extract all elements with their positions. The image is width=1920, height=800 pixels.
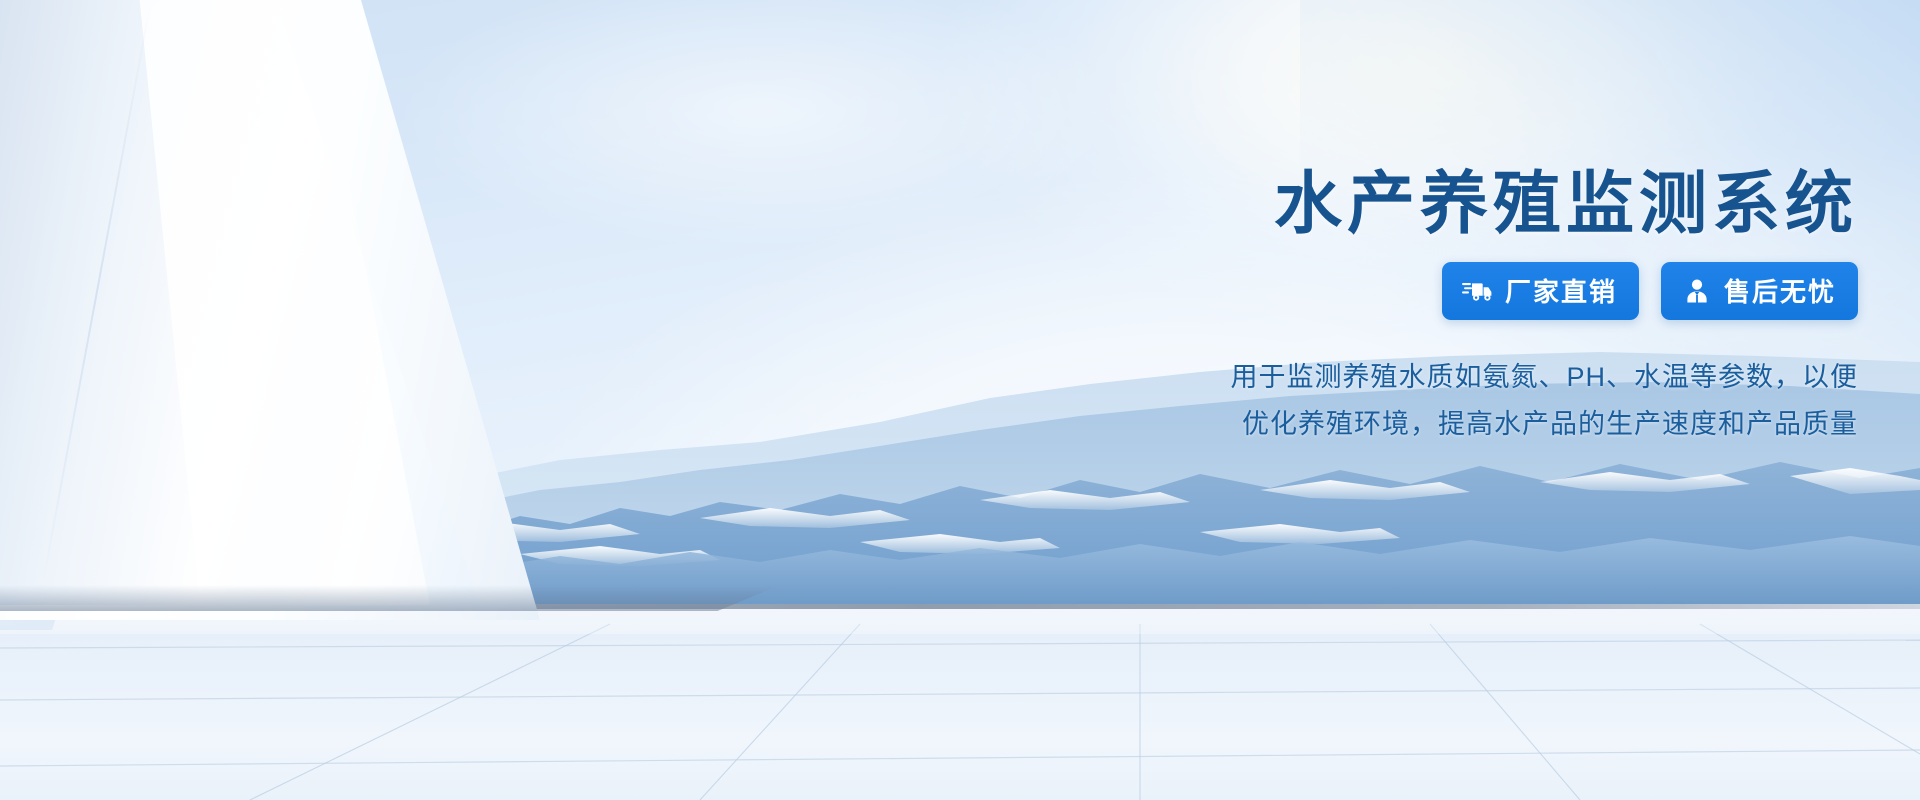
banner-description: 用于监测养殖水质如氨氮、PH、水温等参数，以便 优化养殖环境，提高水产品的生产速… [1038,354,1858,447]
badge-after-sales[interactable]: 售后无忧 [1661,262,1858,320]
hero-banner: 水产养殖监测系统 [0,0,1920,800]
page-title: 水产养殖监测系统 [1038,168,1858,240]
support-agent-icon [1681,277,1713,305]
badge-after-sales-label: 售后无忧 [1724,272,1836,309]
description-line-2: 优化养殖环境，提高水产品的生产速度和产品质量 [1038,401,1858,447]
banner-content: 水产养殖监测系统 [1038,168,1858,447]
feature-badge-group: 厂家直销 售后无忧 [1038,262,1858,320]
badge-factory-direct-label: 厂家直销 [1505,272,1617,309]
plaza-ground [0,604,1920,800]
ground-tile-lines [0,604,1920,800]
architecture-base-shadow [0,585,780,611]
badge-factory-direct[interactable]: 厂家直销 [1442,262,1639,320]
description-line-1: 用于监测养殖水质如氨氮、PH、水温等参数，以便 [1038,354,1858,400]
delivery-truck-icon [1462,277,1494,305]
